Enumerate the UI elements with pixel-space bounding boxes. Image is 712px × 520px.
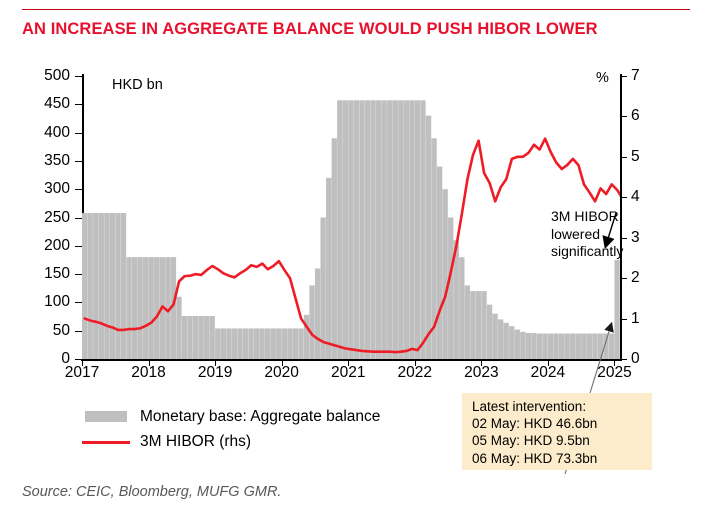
left-tick xyxy=(75,359,82,360)
plot-area xyxy=(82,76,620,359)
legend-label-hibor: 3M HIBOR (rhs) xyxy=(140,430,251,454)
left-tick xyxy=(75,218,82,219)
intervention-line-1: 02 May: HKD 46.6bn xyxy=(472,415,652,432)
right-tick-label: 2 xyxy=(631,270,640,286)
page-title: AN INCREASE IN AGGREGATE BALANCE WOULD P… xyxy=(22,20,682,39)
right-tick-label: 6 xyxy=(631,108,640,124)
left-tick-label: 300 xyxy=(28,181,70,197)
left-tick-label: 50 xyxy=(28,323,70,339)
intervention-callout-box: Latest intervention: 02 May: HKD 46.6bn … xyxy=(462,393,652,470)
chart-legend: Monetary base: Aggregate balance 3M HIBO… xyxy=(82,405,412,455)
right-tick-label: 5 xyxy=(631,149,640,165)
left-tick xyxy=(75,302,82,303)
legend-item-hibor: 3M HIBOR (rhs) xyxy=(82,430,412,455)
source-note: Source: CEIC, Bloomberg, MUFG GMR. xyxy=(22,484,281,500)
left-tick xyxy=(75,189,82,190)
intervention-line-2: 05 May: HKD 9.5bn xyxy=(472,432,652,449)
legend-swatch-bar xyxy=(85,411,127,422)
legend-swatch-line xyxy=(82,441,130,444)
right-tick xyxy=(620,197,627,198)
right-tick xyxy=(620,319,627,320)
x-tick-label: 2021 xyxy=(321,365,375,381)
right-tick xyxy=(620,116,627,117)
title-rule xyxy=(22,9,690,10)
left-tick-label: 450 xyxy=(28,96,70,112)
right-tick xyxy=(620,359,627,360)
x-tick-label: 2017 xyxy=(55,365,109,381)
x-tick-label: 2020 xyxy=(255,365,309,381)
x-tick-label: 2022 xyxy=(388,365,442,381)
left-tick-label: 350 xyxy=(28,153,70,169)
right-tick-label: 1 xyxy=(631,311,640,327)
left-tick xyxy=(75,133,82,134)
x-tick-label: 2023 xyxy=(454,365,508,381)
right-tick xyxy=(620,157,627,158)
left-tick xyxy=(75,274,82,275)
left-tick-label: 500 xyxy=(28,68,70,84)
left-tick-label: 400 xyxy=(28,125,70,141)
left-tick xyxy=(75,246,82,247)
x-tick-label: 2025 xyxy=(587,365,641,381)
right-tick-label: 4 xyxy=(631,189,640,205)
hibor-line xyxy=(82,76,620,359)
hibor-annotation-line-1: 3M HIBOR xyxy=(551,208,619,224)
right-tick xyxy=(620,278,627,279)
left-tick-label: 200 xyxy=(28,238,70,254)
intervention-heading: Latest intervention: xyxy=(472,398,652,415)
hibor-annotation-line-3: significantly xyxy=(551,243,623,259)
left-tick xyxy=(75,76,82,77)
intervention-line-3: 06 May: HKD 73.3bn xyxy=(472,450,652,467)
hibor-annotation-line-2: lowered xyxy=(551,226,600,242)
x-axis-line xyxy=(81,359,622,361)
x-tick-label: 2018 xyxy=(122,365,176,381)
right-tick-label: 7 xyxy=(631,68,640,84)
legend-label-aggregate-balance: Monetary base: Aggregate balance xyxy=(140,405,380,429)
legend-item-aggregate-balance: Monetary base: Aggregate balance xyxy=(82,405,412,430)
left-tick-label: 250 xyxy=(28,210,70,226)
right-tick xyxy=(620,76,627,77)
left-tick-label: 100 xyxy=(28,294,70,310)
chart-page: AN INCREASE IN AGGREGATE BALANCE WOULD P… xyxy=(0,0,712,520)
left-tick xyxy=(75,331,82,332)
x-tick-label: 2019 xyxy=(188,365,242,381)
left-tick xyxy=(75,161,82,162)
x-tick-label: 2024 xyxy=(521,365,575,381)
left-tick-label: 150 xyxy=(28,266,70,282)
hibor-annotation-text: 3M HIBOR lowered significantly xyxy=(551,208,646,261)
left-tick xyxy=(75,104,82,105)
